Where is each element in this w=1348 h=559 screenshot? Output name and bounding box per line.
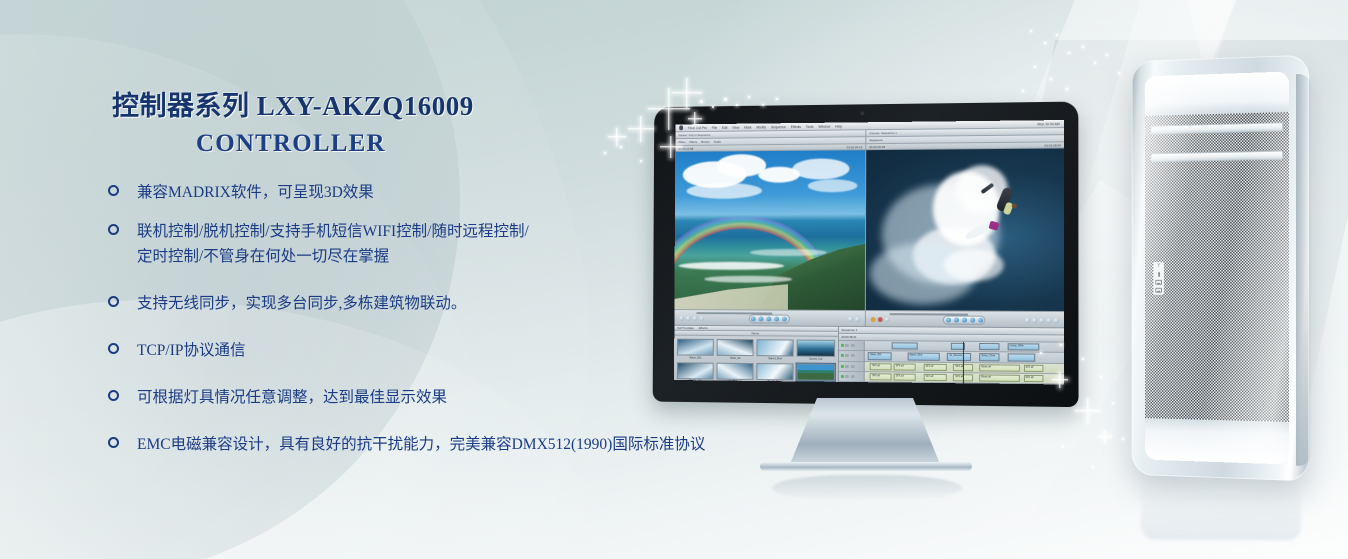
viewer-panel: Viewer: Clip in Sequence Video Filters M… (674, 130, 866, 326)
menu-item-effects[interactable]: Effects (791, 123, 801, 131)
list-item[interactable]: Rider_02 (717, 339, 754, 360)
clip-label: Music.aif (980, 365, 1018, 368)
display-stand-base (760, 462, 972, 471)
clip[interactable]: SFX.aif (870, 373, 892, 381)
clip[interactable]: SFX.aif (923, 374, 947, 382)
lower-panels: Surf Footage Effects Name Wave_001 (674, 325, 1064, 385)
bullet-ring-icon (108, 296, 119, 307)
page-title: 控制器系列 LXY-AKZQ16009 (112, 84, 474, 123)
timecode-in[interactable]: 00:01:03:18 (869, 145, 885, 149)
tower-bottom-cap (1145, 418, 1289, 464)
playback-buttons[interactable] (748, 314, 789, 323)
transport-left-buttons[interactable] (871, 317, 890, 322)
playhead[interactable] (963, 342, 964, 383)
clip-label: Lineup_Wide (1008, 344, 1038, 347)
clip-label: SFX.aif (1024, 376, 1042, 379)
menu-item-window[interactable]: Window (818, 122, 830, 130)
list-item[interactable]: Air_Reverse (717, 363, 754, 382)
feature-text: EMC电磁兼容设计，具有良好的抗干扰能力，完美兼容DMX512(1990)国际标… (137, 432, 705, 457)
clip-label: Barrel_Shot (909, 354, 939, 357)
timeline-tab-label: Sequence 1 (842, 328, 858, 332)
clip[interactable]: Music.aif (979, 364, 1019, 372)
desktop-display: Final Cut Pro File Edit View Mark Modify… (648, 104, 1076, 404)
usb-icon[interactable] (1155, 280, 1162, 285)
tab-surf-footage[interactable]: Surf Footage (677, 326, 694, 330)
bullet-ring-icon (108, 185, 119, 196)
clip[interactable]: SFX.aif (870, 363, 892, 370)
list-item[interactable]: Sunset_Cut (797, 340, 835, 361)
tab-sequence[interactable]: Sequence (869, 138, 882, 142)
list-item[interactable]: Beach_Break (757, 363, 794, 382)
clip[interactable]: SFX.aif (894, 373, 916, 381)
bullet-ring-icon (108, 343, 119, 354)
clip-label: SFX.aif (895, 374, 915, 377)
transport-right-buttons[interactable] (848, 317, 860, 322)
clip[interactable]: SFX.aif (894, 363, 916, 371)
feature-text: TCP/IP协议通信 (137, 338, 246, 363)
tower-top-cap (1145, 71, 1289, 115)
tab-effects[interactable]: Effects (699, 326, 708, 330)
feature-text: 支持无线同步，实现多台同步,多栋建筑物联动。 (137, 291, 466, 316)
video-editor-app: Final Cut Pro File Edit View Mark Modify… (674, 120, 1064, 384)
transport-right-buttons[interactable] (1025, 318, 1059, 323)
viewer-transport[interactable] (674, 309, 865, 326)
clip-name: Sunset_Cut (797, 357, 835, 361)
workstation-tower (1128, 58, 1310, 478)
tower-reflection (1141, 478, 1301, 541)
menu-item-modify[interactable]: Modify (756, 123, 766, 131)
clip-label: SFX.aif (1024, 365, 1042, 368)
sparkle-icon (608, 128, 626, 146)
clip-name: Wave_001 (677, 356, 714, 360)
clip-label: Air_Reverse (948, 354, 970, 357)
clip-label: SFX.aif (895, 364, 915, 367)
list-item[interactable]: Barrel_Shot (757, 339, 794, 360)
firewire-icon[interactable] (1155, 264, 1162, 269)
menu-item-help[interactable]: Help (835, 122, 842, 130)
clip-name: Rider_02 (717, 356, 754, 360)
display-stand-reflection (772, 475, 962, 501)
transport-left-buttons[interactable] (679, 316, 704, 321)
clip[interactable] (1007, 354, 1035, 362)
front-port-cluster[interactable] (1153, 262, 1164, 295)
list-item[interactable]: Wave_001 (677, 339, 714, 360)
clip[interactable] (979, 343, 999, 351)
product-banner: 控制器系列 LXY-AKZQ16009 CONTROLLER 兼容MADRIX软… (0, 0, 1348, 559)
menu-item-app[interactable]: Final Cut Pro (688, 124, 707, 132)
clip[interactable]: Spray_Close (979, 353, 999, 361)
viewer-title: Viewer: Clip in Sequence (678, 133, 710, 137)
bullet-ring-icon (108, 224, 119, 235)
clip[interactable]: Lineup_Wide (1007, 343, 1039, 351)
usb-icon[interactable] (1155, 288, 1162, 293)
clip-label: Wave_001 (869, 353, 891, 356)
tab-filters[interactable]: Filters (689, 140, 697, 144)
feature-text: 兼容MADRIX软件，可呈现3D效果 (137, 180, 374, 205)
bullet-ring-icon (108, 437, 119, 448)
list-item[interactable]: Coast_Aerial (797, 363, 835, 382)
browser-panel: Surf Footage Effects Name Wave_001 (674, 326, 839, 382)
column-name: Name (751, 331, 759, 335)
clip-label: Music.aif (980, 375, 1018, 378)
timeline-panel: Sequence 1 00:00:38:22 (838, 327, 1064, 385)
tower-side-shadow (1296, 74, 1312, 467)
surfer-image (866, 148, 1064, 311)
timeline-tracks: Lineup_Wide Wave_001 Barrel_Shot (838, 341, 1064, 385)
menu-item-file[interactable]: File (712, 123, 717, 131)
timeline-timecode: 00:00:38:22 (842, 335, 857, 339)
canvas-title: Canvas: Sequence 1 (869, 131, 897, 135)
feature-text: 可根据灯具情况任意调整，达到最佳显示效果 (137, 385, 447, 410)
track-header-v1[interactable] (838, 351, 863, 361)
menu-item-view[interactable]: View (732, 123, 739, 131)
track-header-v2[interactable] (839, 341, 864, 351)
canvas-viewport[interactable] (866, 148, 1064, 311)
viewer-row: Viewer: Clip in Sequence Video Filters M… (674, 128, 1064, 327)
tab-video[interactable]: Video (678, 140, 685, 144)
clip[interactable]: SFX.aif (923, 363, 947, 371)
timecode-out[interactable]: 01:01:24:12 (847, 145, 863, 149)
menu-item-mark[interactable]: Mark (744, 123, 751, 131)
timecode-in[interactable]: 00:00:14:08 (678, 146, 693, 150)
tab-audio[interactable]: Audio (714, 140, 721, 144)
canvas-panel: Canvas: Sequence 1 Sequence 00:01:03:18 … (866, 128, 1064, 327)
clip[interactable]: Barrel_Shot (908, 353, 940, 361)
clip-label: SFX.aif (924, 375, 946, 378)
canvas-transport[interactable] (866, 310, 1064, 327)
timecode-out[interactable]: 01:01:18:04 (1045, 143, 1061, 147)
menubar-spacer (847, 124, 1032, 126)
display-screen: Final Cut Pro File Edit View Mark Modify… (674, 120, 1064, 384)
menubar-clock[interactable]: Mon 10:04 AM (1037, 120, 1059, 128)
menu-item-tools[interactable]: Tools (806, 122, 814, 130)
clip-label: SFX.aif (871, 374, 891, 377)
clip-label: Spray_Close (980, 354, 998, 357)
list-item[interactable]: Paddle_Out (677, 362, 714, 382)
page-subtitle: CONTROLLER (196, 130, 386, 158)
apple-menu-icon[interactable] (679, 125, 683, 130)
webcam-icon (860, 111, 864, 115)
clip-thumbnail-grid[interactable]: Wave_001 Rider_02 Barrel_Shot (674, 336, 838, 382)
clip[interactable]: Music.aif (979, 374, 1019, 382)
list-item: EMC电磁兼容设计，具有良好的抗干扰能力，完美兼容DMX512(1990)国际标… (108, 432, 848, 457)
feature-text: 联机控制/脱机控制/支持手机短信WIFI控制/随时远程控制/ 定时控制/不管身在… (137, 219, 529, 269)
menu-item-edit[interactable]: Edit (722, 123, 728, 131)
tab-motion[interactable]: Motion (701, 140, 710, 144)
track-headers[interactable] (838, 341, 864, 382)
headphone-icon[interactable] (1155, 272, 1162, 277)
menu-item-sequence[interactable]: Sequence (771, 123, 786, 131)
clip[interactable]: Air_Reverse (947, 353, 971, 361)
clip[interactable]: Wave_001 (868, 352, 892, 359)
viewer-canvas[interactable] (674, 150, 865, 310)
track-lanes[interactable]: Lineup_Wide Wave_001 Barrel_Shot (864, 341, 1064, 384)
clip-label: SFX.aif (871, 364, 891, 367)
clip-name: Barrel_Shot (757, 357, 794, 361)
track-header-a1[interactable] (838, 361, 863, 372)
tower-front-panel (1145, 71, 1289, 464)
clip[interactable] (892, 342, 918, 350)
clip[interactable]: SFX.aif (1023, 364, 1043, 372)
clip[interactable]: SFX.aif (1023, 375, 1043, 383)
playback-buttons[interactable] (943, 315, 985, 324)
clip-label: SFX.aif (924, 364, 946, 367)
coastline-image (674, 150, 865, 310)
track-header-a2[interactable] (838, 372, 863, 383)
bullet-ring-icon (108, 390, 119, 401)
